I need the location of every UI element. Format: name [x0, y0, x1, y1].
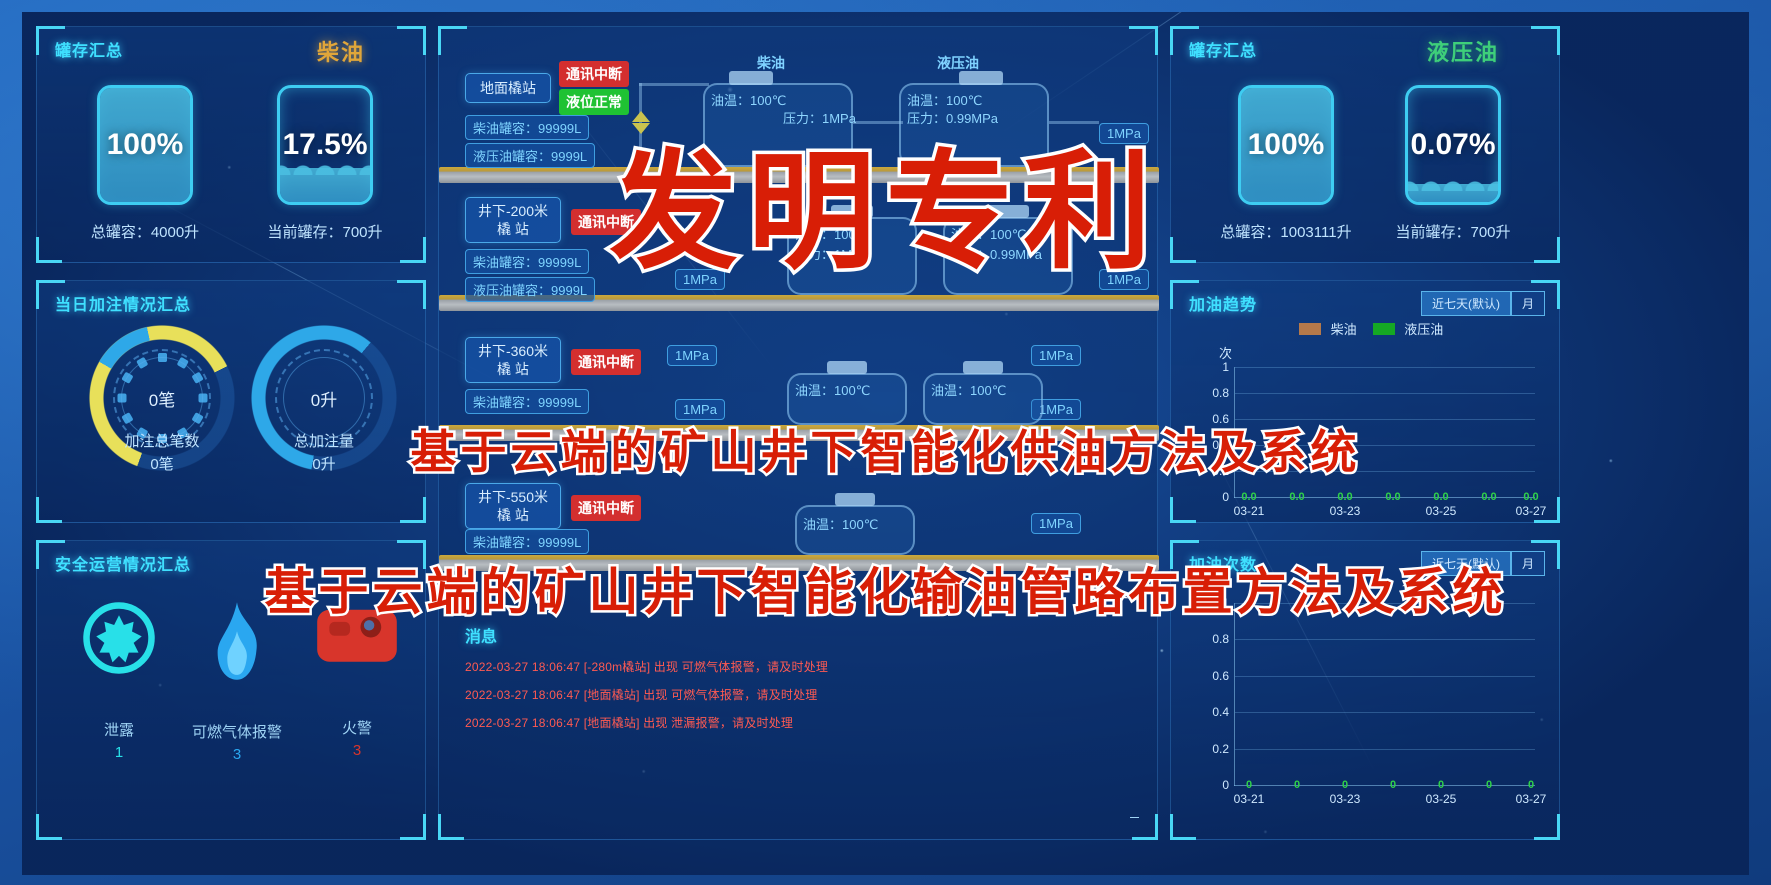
- dashboard-board: 罐存汇总 柴油 100% 总罐容：4000升 17.5% 当前罐存：700升 当…: [22, 12, 1749, 875]
- status-badge-comm: 通讯中断: [571, 495, 641, 521]
- tank-graphic-label-diesel: 柴油: [757, 53, 785, 73]
- range-button-month[interactable]: 月: [1511, 551, 1545, 576]
- tank-shape: 0.07%: [1405, 85, 1501, 205]
- tank-caption: 当前罐存：700升: [255, 221, 395, 242]
- chart-point-label: 0.0: [1433, 491, 1448, 503]
- tank-temp-diesel: 油温：100℃: [711, 93, 786, 109]
- watermark-line-1: 基于云端的矿山井下智能化供油方法及系统: [411, 416, 1361, 482]
- chart-legend: 柴油 液压油: [1299, 319, 1443, 338]
- tank-caption: 总罐容：1003111升: [1211, 221, 1361, 242]
- panel-title: 罐存汇总: [55, 37, 123, 61]
- chart-ytick: 0: [1222, 778, 1229, 792]
- chart-xtick: 03-27: [1516, 504, 1547, 518]
- gauge-current-stock: 0.07% 当前罐存：700升: [1383, 85, 1523, 242]
- tank-temp-hydraulic: 油温：100℃: [907, 93, 982, 109]
- chart-plot-area: 1 0.8 0.6 0.4 0.2 0 0 0 0 0 0 0 0 03-21 …: [1235, 603, 1535, 785]
- chart-ytick: 1: [1222, 360, 1229, 374]
- station-label-200m[interactable]: 井下-200米 橇 站: [465, 197, 561, 243]
- chart-point-label: 0.0: [1289, 491, 1304, 503]
- donut-center-value: 0笔: [121, 357, 203, 439]
- tank-percent-value: 17.5%: [280, 88, 370, 202]
- donut-label-line1: 加注总笔数: [72, 431, 252, 454]
- tank-temp-360m-2: 油温：100℃: [931, 383, 1006, 399]
- chart-xtick: 03-21: [1234, 504, 1265, 518]
- station-chip-diesel: 柴油罐容：99999L: [465, 115, 589, 140]
- chart-point-label: 0.0: [1523, 491, 1538, 503]
- chart-point-label: 0: [1294, 779, 1300, 791]
- safety-item-count: 1: [59, 744, 179, 761]
- tank-shape: 17.5%: [277, 85, 373, 205]
- station-label-360m[interactable]: 井下-360米 橇 站: [465, 337, 561, 383]
- tank-temp-550m: 油温：100℃: [803, 517, 878, 533]
- station-label-surface[interactable]: 地面橇站: [465, 73, 551, 103]
- donut-center-value: 0升: [283, 357, 365, 439]
- leak-icon: [59, 599, 179, 685]
- panel-title: 加油趋势: [1189, 291, 1257, 315]
- station-chip-diesel: 柴油罐容：99999L: [465, 529, 589, 554]
- chart-xtick: 03-23: [1330, 504, 1361, 518]
- panel-title: 当日加注情况汇总: [55, 291, 191, 315]
- chart-point-label: 0: [1390, 779, 1396, 791]
- tank-shape: 100%: [97, 85, 193, 205]
- legend-entry-diesel: 柴油: [1299, 319, 1357, 338]
- panel-subject-label: 液压油: [1427, 35, 1499, 67]
- legend-label-hydraulic: 液压油: [1404, 322, 1443, 337]
- panel-left-tank-summary: 罐存汇总 柴油 100% 总罐容：4000升 17.5% 当前罐存：700升: [36, 26, 426, 263]
- tank-cap: [835, 493, 875, 506]
- watermark-line-2: 基于云端的矿山井下智能化输油管路布置方法及系统: [265, 552, 1507, 624]
- safety-item-leak: 泄露 1: [59, 599, 179, 761]
- gauge-total-capacity: 100% 总罐容：1003111升: [1211, 85, 1361, 242]
- safety-item-count: 3: [177, 746, 297, 763]
- station-chip-hydraulic: 液压油罐容：9999L: [465, 143, 595, 168]
- tank-shape: 100%: [1238, 85, 1334, 205]
- tank-cap: [963, 361, 1003, 374]
- safety-item-label: 泄露: [59, 719, 179, 740]
- chart-xtick: 03-25: [1426, 504, 1457, 518]
- tank-temp-360m: 油温：100℃: [795, 383, 870, 399]
- pressure-chip: 1MPa: [667, 345, 717, 366]
- message-log-row: 2022-03-27 18:06:47 [地面橇站] 出现 泄漏报警，请及时处理: [465, 714, 1125, 731]
- chart-ytick: 0.2: [1212, 742, 1229, 756]
- chart-ytick: 0.8: [1212, 632, 1229, 646]
- station-label-550m[interactable]: 井下-550米 橇 站: [465, 483, 561, 529]
- station-chip-diesel: 柴油罐容：99999L: [465, 249, 589, 274]
- tank-percent-value: 100%: [100, 88, 190, 202]
- legend-label-diesel: 柴油: [1331, 322, 1357, 337]
- chart-point-label: 0.0: [1385, 491, 1400, 503]
- legend-swatch-diesel: [1299, 323, 1321, 335]
- message-log-row: 2022-03-27 18:06:47 [-280m橇站] 出现 可燃气体报警，…: [465, 658, 1125, 675]
- tank-cap: [729, 71, 773, 85]
- pressure-chip: 1MPa: [1031, 345, 1081, 366]
- chart-y-axis: [1234, 603, 1235, 786]
- range-button-month[interactable]: 月: [1511, 291, 1545, 316]
- message-log-row: 2022-03-27 18:06:47 [地面橇站] 出现 可燃气体报警，请及时…: [465, 686, 1125, 703]
- collapse-icon[interactable]: ⎯: [1130, 806, 1139, 827]
- legend-entry-hydraulic: 液压油: [1373, 319, 1444, 338]
- panel-subject-label: 柴油: [317, 35, 365, 67]
- panel-title: 罐存汇总: [1189, 37, 1257, 61]
- status-badge-comm: 通讯中断: [559, 61, 629, 87]
- tank-caption: 总罐容：4000升: [85, 221, 205, 242]
- chart-range-buttons: 近七天(默认) 月: [1421, 291, 1545, 316]
- panel-title: 安全运营情况汇总: [55, 551, 191, 575]
- chart-xtick: 03-23: [1330, 792, 1361, 806]
- panel-refuel-trend-chart: 加油趋势 近七天(默认) 月 柴油 液压油 次 1 0.8 0.6 0.4 0.…: [1170, 280, 1560, 523]
- message-log-title: 消息: [465, 623, 1125, 647]
- range-button-week[interactable]: 近七天(默认): [1421, 291, 1511, 316]
- tank-cap: [959, 71, 1003, 85]
- chart-point-label: 0.0: [1481, 491, 1496, 503]
- tank-cap: [827, 361, 867, 374]
- donut-label-line2: 0笔: [72, 454, 252, 477]
- donut-label-line2: 0升: [234, 454, 414, 477]
- tank-percent-value: 0.07%: [1408, 88, 1498, 202]
- tank-percent-value: 100%: [1241, 88, 1331, 202]
- chart-point-label: 0: [1246, 779, 1252, 791]
- station-chip-diesel: 柴油罐容：99999L: [465, 389, 589, 414]
- panel-right-tank-summary: 罐存汇总 液压油 100% 总罐容：1003111升 0.07% 当前罐存：70…: [1170, 26, 1560, 263]
- status-badge-comm: 通讯中断: [571, 349, 641, 375]
- chart-point-label: 0.0: [1337, 491, 1352, 503]
- chart-ytick: 0.6: [1212, 669, 1229, 683]
- chart-xtick: 03-27: [1516, 792, 1547, 806]
- watermark-title: 发明专利: [609, 108, 1161, 293]
- chart-point-label: 0: [1486, 779, 1492, 791]
- screen-background: 罐存汇总 柴油 100% 总罐容：4000升 17.5% 当前罐存：700升 当…: [0, 0, 1771, 885]
- chart-xtick: 03-21: [1234, 792, 1265, 806]
- safety-item-count: 3: [297, 742, 417, 759]
- chart-point-label: 0.0: [1241, 491, 1256, 503]
- pipe-segment: [639, 83, 709, 86]
- station-chip-hydraulic: 液压油罐容：9999L: [465, 277, 595, 302]
- chart-xtick: 03-25: [1426, 792, 1457, 806]
- chart-ytick: 0.8: [1212, 386, 1229, 400]
- legend-swatch-hydraulic: [1373, 323, 1395, 335]
- gauge-current-stock: 17.5% 当前罐存：700升: [255, 85, 395, 242]
- donut-label-line1: 总加注量: [234, 431, 414, 454]
- safety-item-label: 火警: [297, 717, 417, 738]
- chart-point-label: 0: [1438, 779, 1444, 791]
- donut-label-count: 加注总笔数 0笔: [72, 431, 252, 476]
- gauge-total-capacity: 100% 总罐容：4000升: [85, 85, 205, 242]
- safety-item-label: 可燃气体报警: [177, 721, 297, 742]
- tank-caption: 当前罐存：700升: [1383, 221, 1523, 242]
- message-log: 消息 2022-03-27 18:06:47 [-280m橇站] 出现 可燃气体…: [465, 623, 1125, 731]
- pressure-chip: 1MPa: [1031, 513, 1081, 534]
- chart-point-label: 0: [1528, 779, 1534, 791]
- tank-graphic-label-hydraulic: 液压油: [937, 53, 979, 73]
- chart-point-label: 0: [1342, 779, 1348, 791]
- chart-ytick: 0: [1222, 490, 1229, 504]
- chart-ytick: 0.4: [1212, 705, 1229, 719]
- donut-label-volume: 总加注量 0升: [234, 431, 414, 476]
- panel-today-refuel: 当日加注情况汇总 0笔 加注总笔数 0笔 0升 总加注量 0升: [36, 280, 426, 523]
